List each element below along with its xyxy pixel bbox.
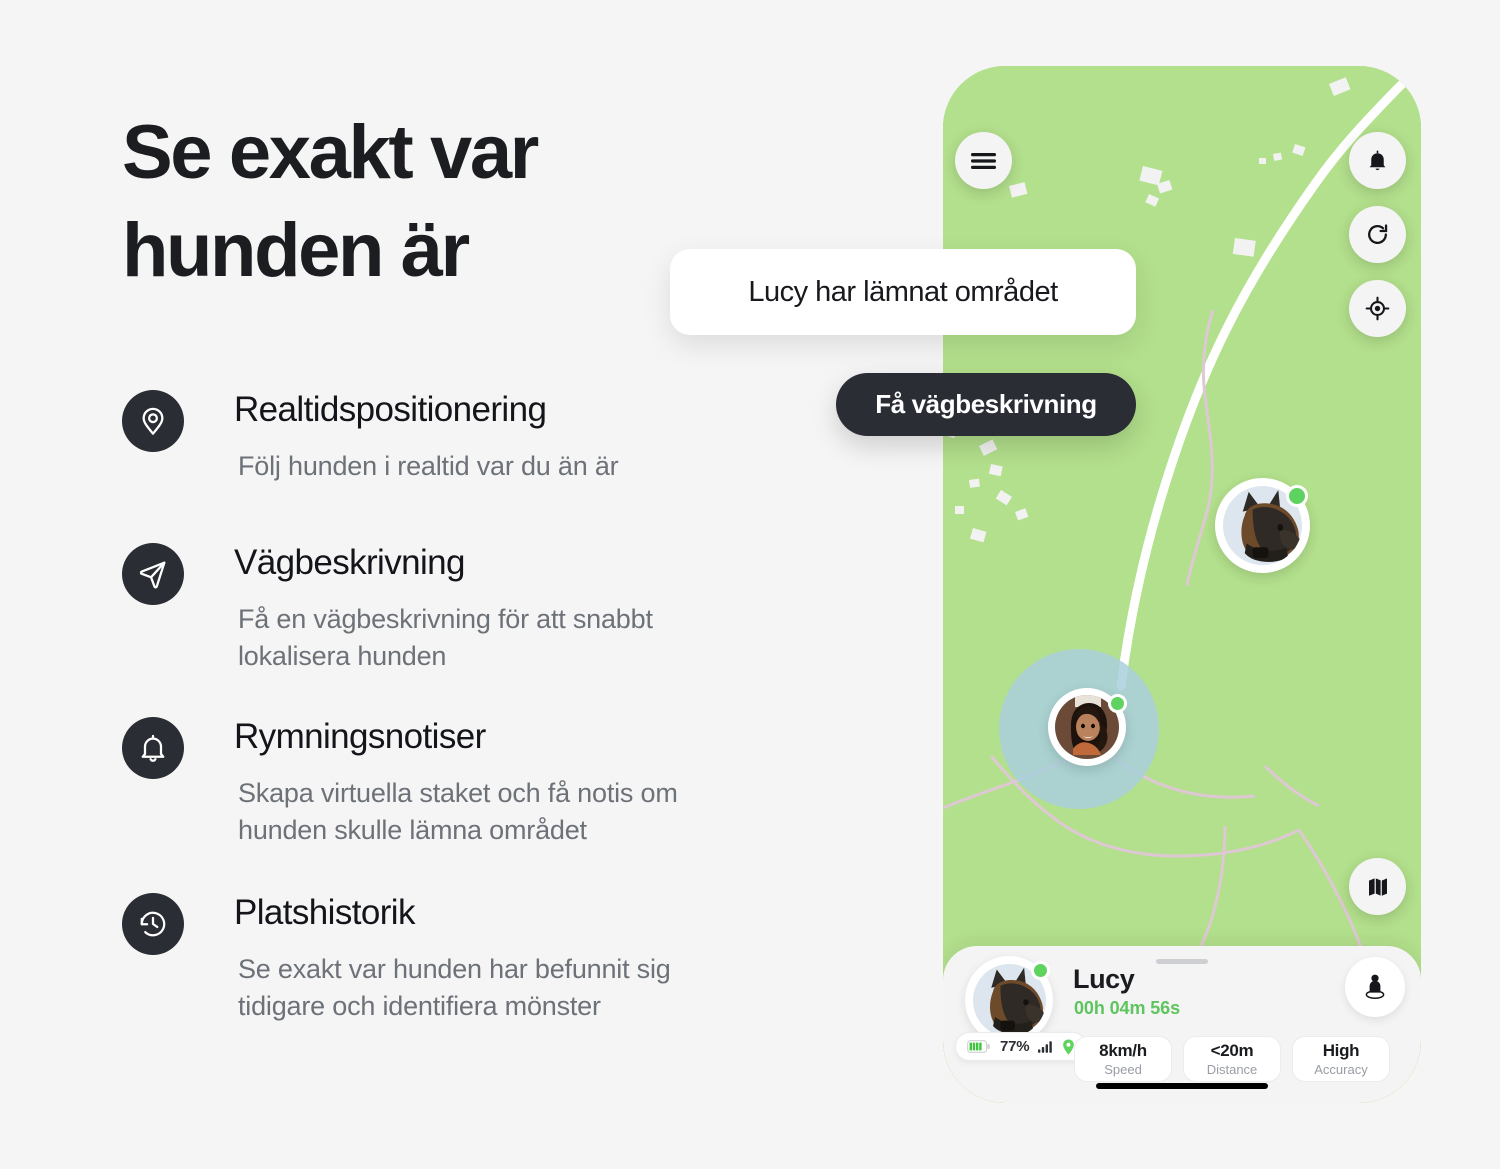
stat-value: 8km/h: [1099, 1041, 1147, 1061]
stat-chip-speed[interactable]: 8km/h Speed: [1074, 1036, 1172, 1082]
map-layers-button[interactable]: [1349, 858, 1406, 915]
dog-map-marker[interactable]: [1215, 478, 1310, 573]
refresh-icon: [1365, 222, 1390, 247]
menu-icon: [971, 152, 996, 170]
pet-name: Lucy: [1073, 964, 1134, 995]
person-locate-button[interactable]: [1345, 957, 1405, 1017]
bottom-sheet[interactable]: 77% Lucy 00h 04m 56s: [943, 946, 1421, 1103]
status-dot-online: [1286, 485, 1308, 507]
feature-description: Följ hunden i realtid var du än är: [238, 448, 912, 485]
sheet-dog-avatar[interactable]: [965, 956, 1053, 1044]
stat-label: Speed: [1104, 1062, 1142, 1077]
navigation-arrow-icon: [122, 543, 184, 605]
home-indicator: [1096, 1083, 1268, 1089]
cta-label: Få vägbeskrivning: [875, 389, 1097, 420]
clock-history-icon: [122, 893, 184, 955]
feature-item-platshistorik: Platshistorik Se exakt var hunden har be…: [122, 891, 912, 1025]
stat-value: <20m: [1211, 1041, 1254, 1061]
locate-crosshair-icon: [1365, 296, 1390, 321]
stat-chip-accuracy[interactable]: High Accuracy: [1292, 1036, 1390, 1082]
sheet-grabber[interactable]: [1156, 959, 1208, 964]
status-dot-online: [1108, 694, 1127, 713]
stat-label: Accuracy: [1314, 1062, 1367, 1077]
battery-icon: [967, 1040, 991, 1053]
bell-icon: [1365, 148, 1390, 173]
person-map-marker[interactable]: [1048, 688, 1126, 766]
left-content-column: Se exakt var hunden är Realtidspositione…: [122, 104, 912, 1037]
toast-message: Lucy har lämnat området: [748, 276, 1057, 309]
notifications-button[interactable]: [1349, 132, 1406, 189]
refresh-button[interactable]: [1349, 206, 1406, 263]
person-locate-icon: [1362, 973, 1388, 1001]
device-status-badge: 77%: [955, 1032, 1087, 1061]
map-layers-icon: [1366, 875, 1390, 899]
phone-mockup: SE 135 S 180: [943, 66, 1421, 1103]
feature-list: Realtidspositionering Följ hunden i real…: [122, 388, 912, 1025]
feature-description: Se exakt var hunden har befunnit sig tid…: [238, 951, 912, 1025]
feature-title: Platshistorik: [234, 891, 912, 935]
feature-title: Vägbeskrivning: [234, 541, 912, 585]
feature-title: Rymningsnotiser: [234, 715, 912, 759]
signal-icon: [1038, 1040, 1053, 1053]
feature-item-realtidspositionering: Realtidspositionering Följ hunden i real…: [122, 388, 912, 485]
get-directions-button[interactable]: Få vägbeskrivning: [836, 373, 1136, 436]
battery-percent: 77%: [1000, 1038, 1029, 1055]
status-dot-online: [1031, 961, 1050, 980]
stat-chip-distance[interactable]: <20m Distance: [1183, 1036, 1281, 1082]
menu-button[interactable]: [955, 132, 1012, 189]
stat-label: Distance: [1207, 1062, 1258, 1077]
bell-icon: [122, 717, 184, 779]
feature-item-rymningsnotiser: Rymningsnotiser Skapa virtuella staket o…: [122, 715, 912, 849]
landing-page: Se exakt var hunden är Realtidspositione…: [0, 0, 1500, 1169]
locate-button[interactable]: [1349, 280, 1406, 337]
tracking-duration: 00h 04m 56s: [1074, 998, 1180, 1019]
feature-description: Få en vägbeskrivning för att snabbt loka…: [238, 601, 912, 675]
feature-description: Skapa virtuella staket och få notis om h…: [238, 775, 912, 849]
feature-title: Realtidspositionering: [234, 388, 912, 432]
map-pin-icon: [122, 390, 184, 452]
stat-chip-row: 8km/h Speed <20m Distance High Accuracy: [1074, 1036, 1390, 1082]
feature-item-vagbeskrivning: Vägbeskrivning Få en vägbeskrivning för …: [122, 541, 912, 675]
stat-value: High: [1323, 1041, 1360, 1061]
geofence-toast[interactable]: Lucy har lämnat området: [670, 249, 1136, 335]
